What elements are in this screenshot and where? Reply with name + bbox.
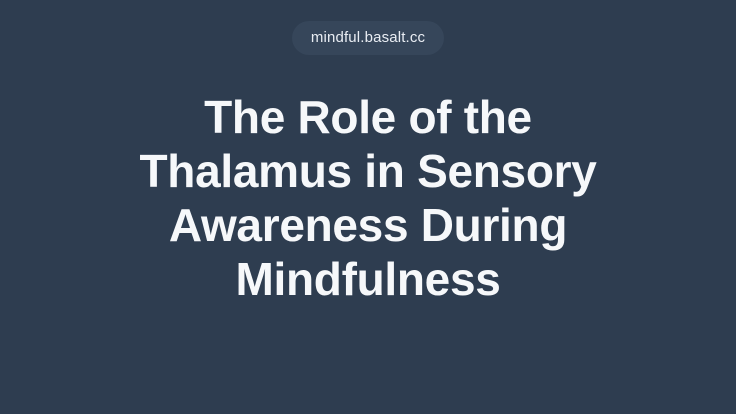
page-title-line-3: Awareness During xyxy=(88,198,648,252)
page-title-line-1: The Role of the xyxy=(88,90,648,144)
page-title-line-4: Mindfulness xyxy=(88,252,648,306)
source-domain-badge: mindful.basalt.cc xyxy=(292,21,444,55)
page-title: The Role of the Thalamus in Sensory Awar… xyxy=(88,90,648,306)
badge-row: mindful.basalt.cc xyxy=(0,21,736,55)
page-title-line-2: Thalamus in Sensory xyxy=(88,144,648,198)
title-card: mindful.basalt.cc The Role of the Thalam… xyxy=(0,0,736,414)
